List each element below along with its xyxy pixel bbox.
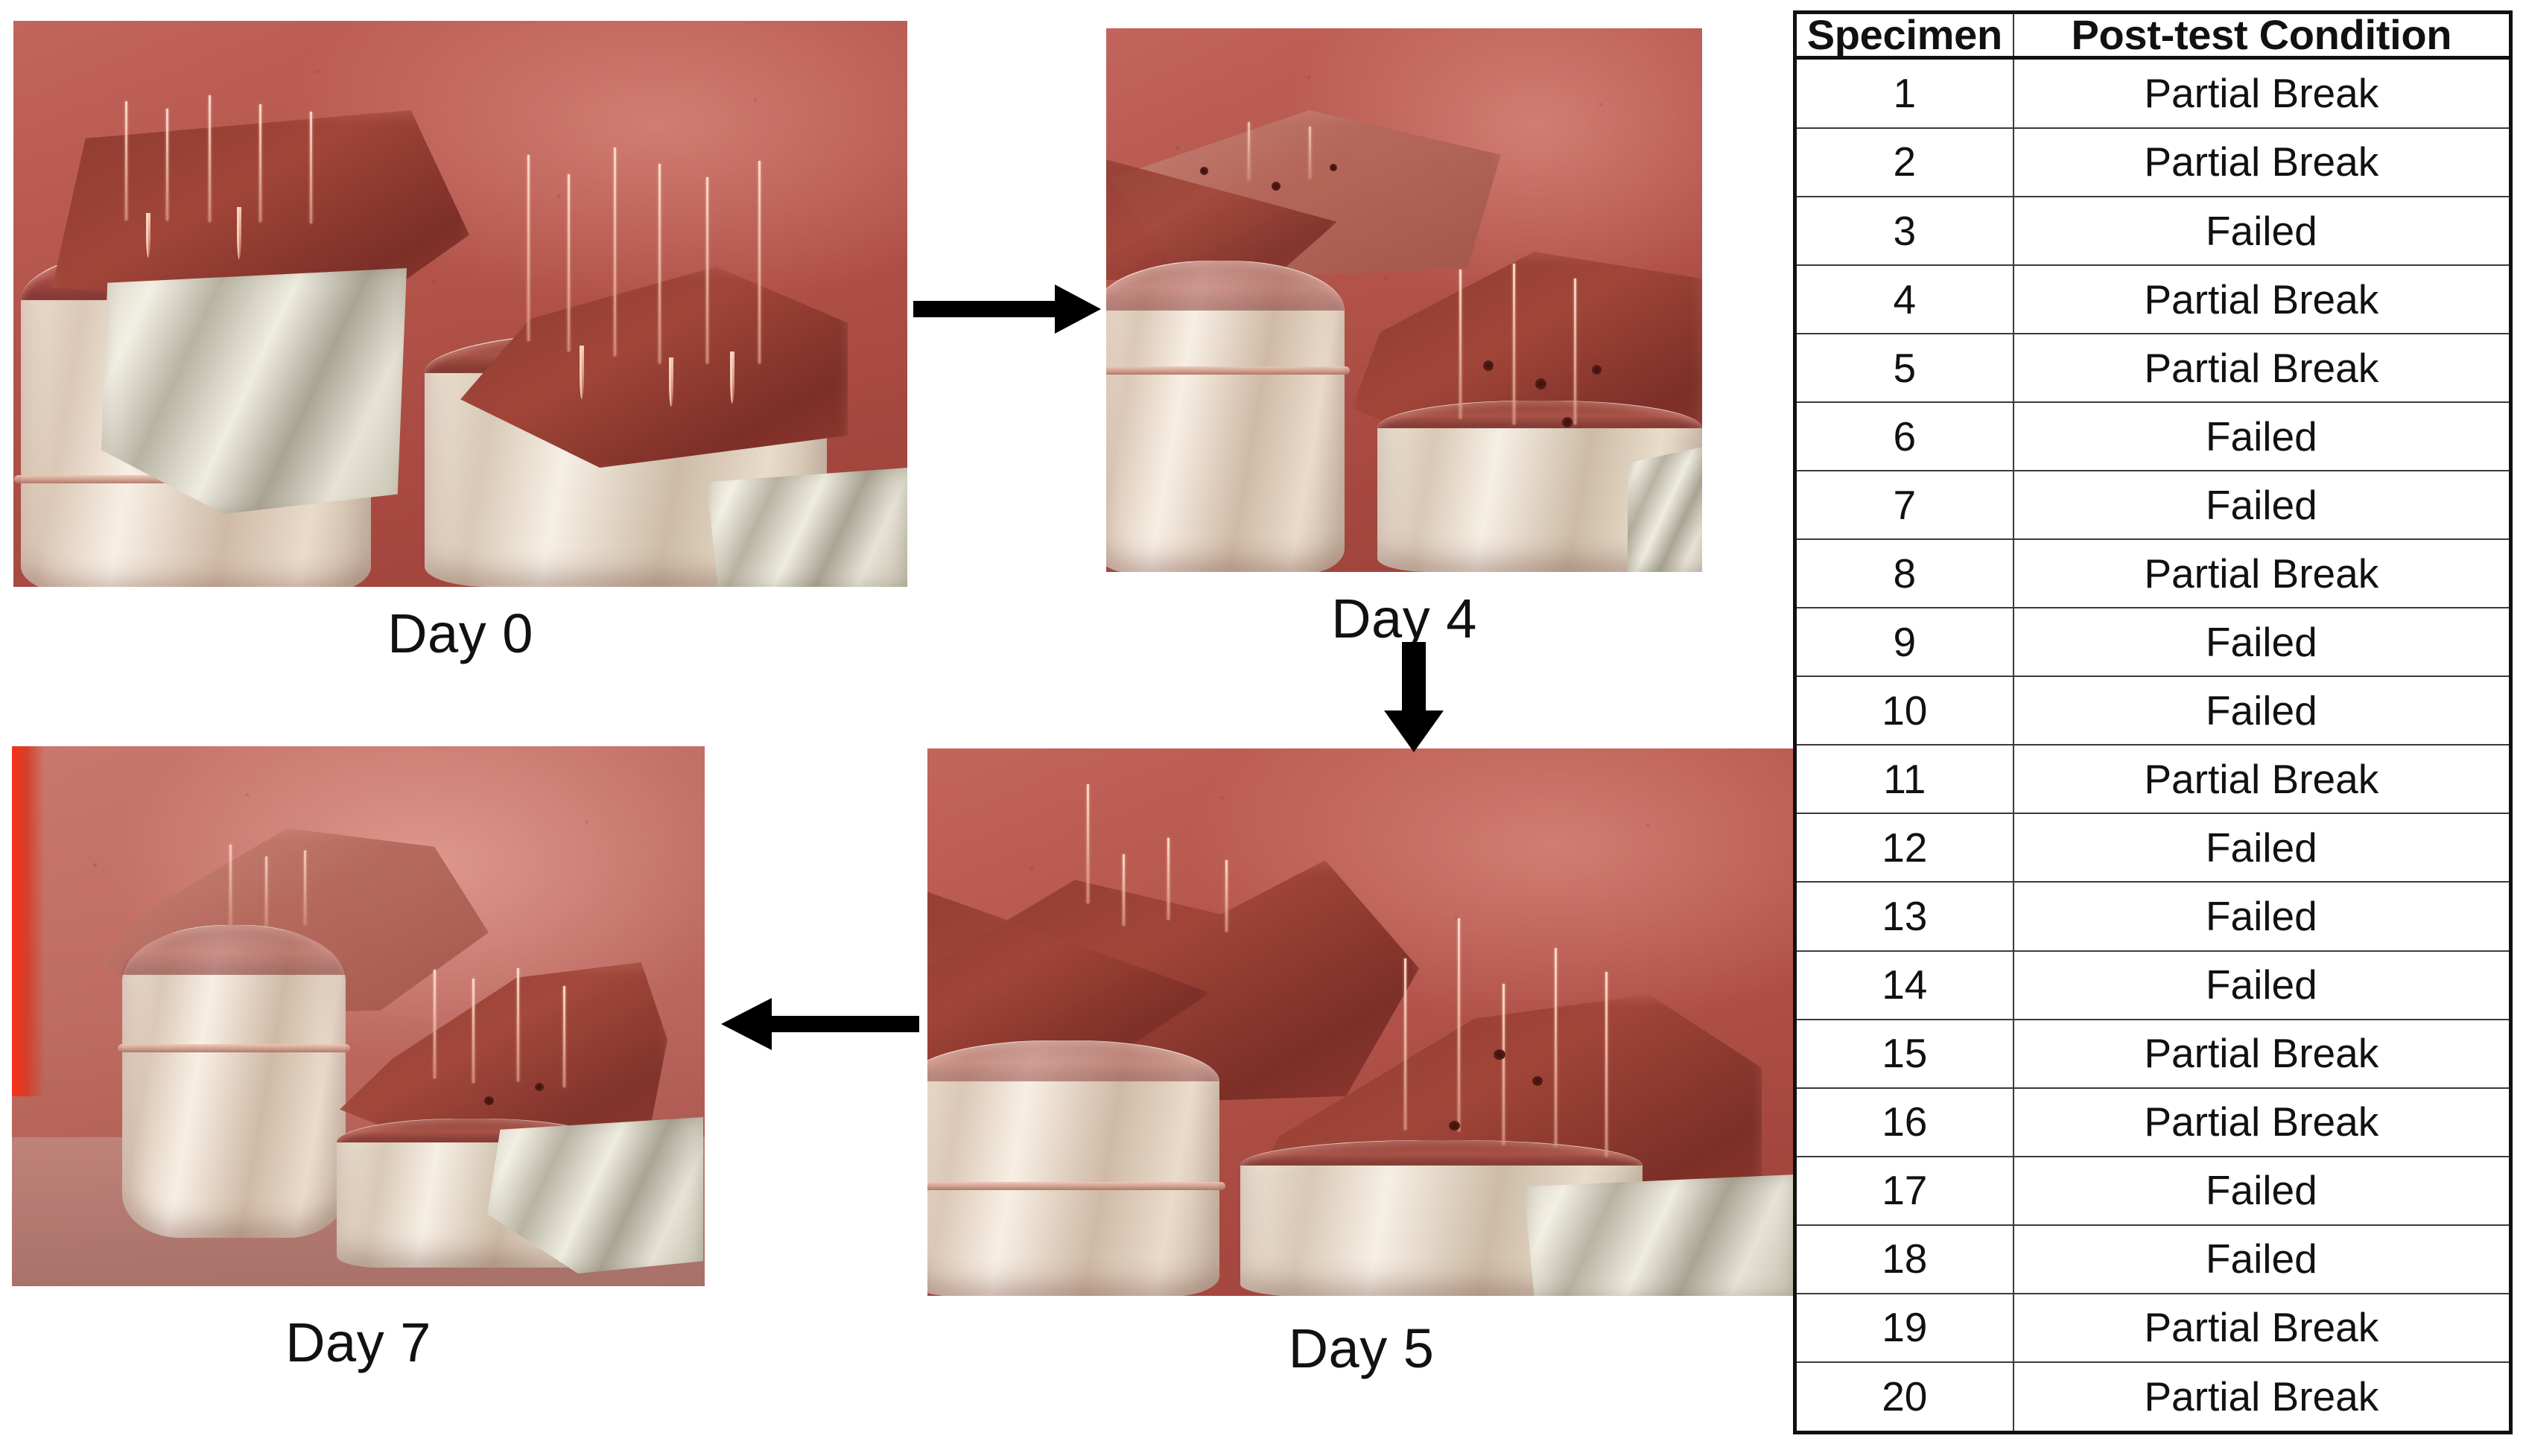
wire-specimen <box>304 851 306 925</box>
cell-specimen: 4 <box>1795 265 2013 334</box>
cell-condition: Partial Break <box>2013 1020 2511 1088</box>
cell-condition: Partial Break <box>2013 539 2511 608</box>
pin-hole <box>1272 182 1281 191</box>
wire-specimen <box>1459 270 1462 419</box>
wire-specimen <box>563 986 565 1087</box>
table-row: 18Failed <box>1795 1225 2511 1294</box>
wire-specimen <box>568 174 570 352</box>
table-row: 9Failed <box>1795 608 2511 676</box>
table-row: 17Failed <box>1795 1157 2511 1225</box>
photo-day-0 <box>13 21 907 587</box>
table-row: 2Partial Break <box>1795 128 2511 197</box>
photo-day-7 <box>12 746 705 1286</box>
cell-specimen: 6 <box>1795 402 2013 471</box>
cell-specimen: 3 <box>1795 197 2013 265</box>
label-day-0: Day 0 <box>13 602 907 665</box>
wire-specimen <box>1248 122 1250 180</box>
pin-hole <box>484 1096 494 1105</box>
wire-specimen <box>1167 838 1170 920</box>
label-day-5: Day 5 <box>927 1317 1795 1380</box>
pin-hole <box>1449 1121 1460 1131</box>
table-row: 6Failed <box>1795 402 2511 471</box>
label-day-7: Day 7 <box>12 1311 705 1374</box>
wire-hook <box>146 213 150 258</box>
wire-specimen <box>265 856 267 928</box>
wire-specimen <box>209 95 211 222</box>
cell-specimen: 2 <box>1795 128 2013 197</box>
specimen-can-left <box>1106 261 1345 572</box>
wire-specimen <box>229 845 232 926</box>
wire-specimen <box>1555 948 1557 1146</box>
pin-hole <box>1535 378 1546 390</box>
wire-specimen <box>614 147 616 356</box>
cell-specimen: 15 <box>1795 1020 2013 1088</box>
cell-specimen: 1 <box>1795 58 2013 128</box>
wire-specimen <box>527 155 530 341</box>
wire-specimen <box>706 177 708 363</box>
wire-specimen <box>434 970 436 1078</box>
wire-specimen <box>310 112 312 223</box>
wire-specimen <box>758 161 761 363</box>
specimen-results-table-wrap: Specimen Post-test Condition 1Partial Br… <box>1793 10 2513 1434</box>
cell-condition: Failed <box>2013 1225 2511 1294</box>
cell-specimen: 7 <box>1795 471 2013 539</box>
wire-specimen <box>259 104 261 222</box>
specimen-can-left <box>927 1040 1219 1296</box>
table-row: 20Partial Break <box>1795 1362 2511 1433</box>
pin-hole <box>1532 1076 1543 1086</box>
table-row: 11Partial Break <box>1795 745 2511 813</box>
table-row: 10Failed <box>1795 676 2511 745</box>
cell-condition: Failed <box>2013 882 2511 950</box>
photo-day-5 <box>927 748 1795 1296</box>
arrow-day5-to-day7 <box>708 983 924 1065</box>
pin-hole <box>1330 164 1337 171</box>
column-header-post-test-condition: Post-test Condition <box>2013 13 2511 58</box>
pin-hole <box>1592 365 1602 375</box>
pin-hole <box>1562 417 1573 427</box>
table-row: 16Partial Break <box>1795 1088 2511 1157</box>
table-row: 14Failed <box>1795 951 2511 1020</box>
wire-hook <box>669 357 673 407</box>
photo-day-4 <box>1106 28 1702 572</box>
cell-condition: Partial Break <box>2013 745 2511 813</box>
table-header-row: Specimen Post-test Condition <box>1795 13 2511 58</box>
cell-condition: Partial Break <box>2013 334 2511 402</box>
cell-condition: Partial Break <box>2013 1362 2511 1433</box>
wire-specimen <box>1087 784 1089 903</box>
cell-condition: Partial Break <box>2013 265 2511 334</box>
table-row: 13Failed <box>1795 882 2511 950</box>
cell-specimen: 18 <box>1795 1225 2013 1294</box>
wire-specimen <box>1513 264 1515 425</box>
cell-condition: Failed <box>2013 951 2511 1020</box>
cell-specimen: 12 <box>1795 813 2013 882</box>
wire-specimen <box>1404 959 1406 1130</box>
wire-specimen <box>1605 972 1608 1157</box>
can-band <box>1106 366 1350 375</box>
cell-condition: Partial Break <box>2013 1088 2511 1157</box>
cell-specimen: 20 <box>1795 1362 2013 1433</box>
cell-specimen: 16 <box>1795 1088 2013 1157</box>
wire-specimen <box>166 109 168 220</box>
red-light-streak <box>12 746 45 1096</box>
wire-hook <box>580 346 584 399</box>
wire-hook <box>730 352 734 404</box>
table-row: 5Partial Break <box>1795 334 2511 402</box>
wire-specimen <box>1574 279 1576 425</box>
foil-wrap-right <box>1628 445 1702 572</box>
cell-specimen: 10 <box>1795 676 2013 745</box>
cell-condition: Failed <box>2013 608 2511 676</box>
wire-specimen <box>517 968 519 1081</box>
cell-specimen: 8 <box>1795 539 2013 608</box>
cell-specimen: 17 <box>1795 1157 2013 1225</box>
table-body: 1Partial Break 2Partial Break 3Failed 4P… <box>1795 58 2511 1433</box>
cell-condition: Failed <box>2013 197 2511 265</box>
cell-condition: Failed <box>2013 1157 2511 1225</box>
pin-hole <box>1483 360 1494 371</box>
table-row: 19Partial Break <box>1795 1294 2511 1362</box>
table-row: 15Partial Break <box>1795 1020 2511 1088</box>
wire-specimen <box>1502 984 1505 1145</box>
figure-root: Day 0 Day 4 <box>0 0 2526 1456</box>
wire-specimen <box>659 164 661 363</box>
table-row: 12Failed <box>1795 813 2511 882</box>
wire-specimen <box>1225 860 1228 932</box>
specimen-can-left <box>122 925 346 1238</box>
table-row: 8Partial Break <box>1795 539 2511 608</box>
cell-specimen: 5 <box>1795 334 2013 402</box>
table-row: 4Partial Break <box>1795 265 2511 334</box>
pin-hole <box>1494 1049 1505 1060</box>
cell-specimen: 13 <box>1795 882 2013 950</box>
cell-condition: Failed <box>2013 402 2511 471</box>
arrow-day4-to-day5 <box>1369 639 1459 758</box>
cell-condition: Partial Break <box>2013 58 2511 128</box>
wire-specimen <box>1458 918 1460 1131</box>
pin-hole <box>1200 167 1208 175</box>
wire-specimen <box>1123 854 1125 926</box>
table-row: 3Failed <box>1795 197 2511 265</box>
cell-specimen: 14 <box>1795 951 2013 1020</box>
foil-wrap-right <box>1523 1174 1795 1296</box>
cell-condition: Failed <box>2013 813 2511 882</box>
table-row: 7Failed <box>1795 471 2511 539</box>
cell-specimen: 11 <box>1795 745 2013 813</box>
column-header-specimen: Specimen <box>1795 13 2013 58</box>
table-row: 1Partial Break <box>1795 58 2511 128</box>
can-band <box>927 1182 1225 1190</box>
cell-specimen: 9 <box>1795 608 2013 676</box>
cell-condition: Failed <box>2013 471 2511 539</box>
cell-condition: Partial Break <box>2013 1294 2511 1362</box>
wire-specimen <box>125 101 127 220</box>
arrow-day0-to-day4 <box>909 268 1110 350</box>
cell-specimen: 19 <box>1795 1294 2013 1362</box>
pin-hole <box>535 1083 544 1091</box>
cell-condition: Failed <box>2013 676 2511 745</box>
cell-condition: Partial Break <box>2013 128 2511 197</box>
specimen-results-table: Specimen Post-test Condition 1Partial Br… <box>1793 10 2513 1434</box>
wire-hook <box>237 207 241 259</box>
wire-specimen <box>1309 127 1311 179</box>
foil-wrap-right <box>706 468 907 587</box>
can-band <box>118 1044 350 1052</box>
wire-specimen <box>472 979 475 1083</box>
